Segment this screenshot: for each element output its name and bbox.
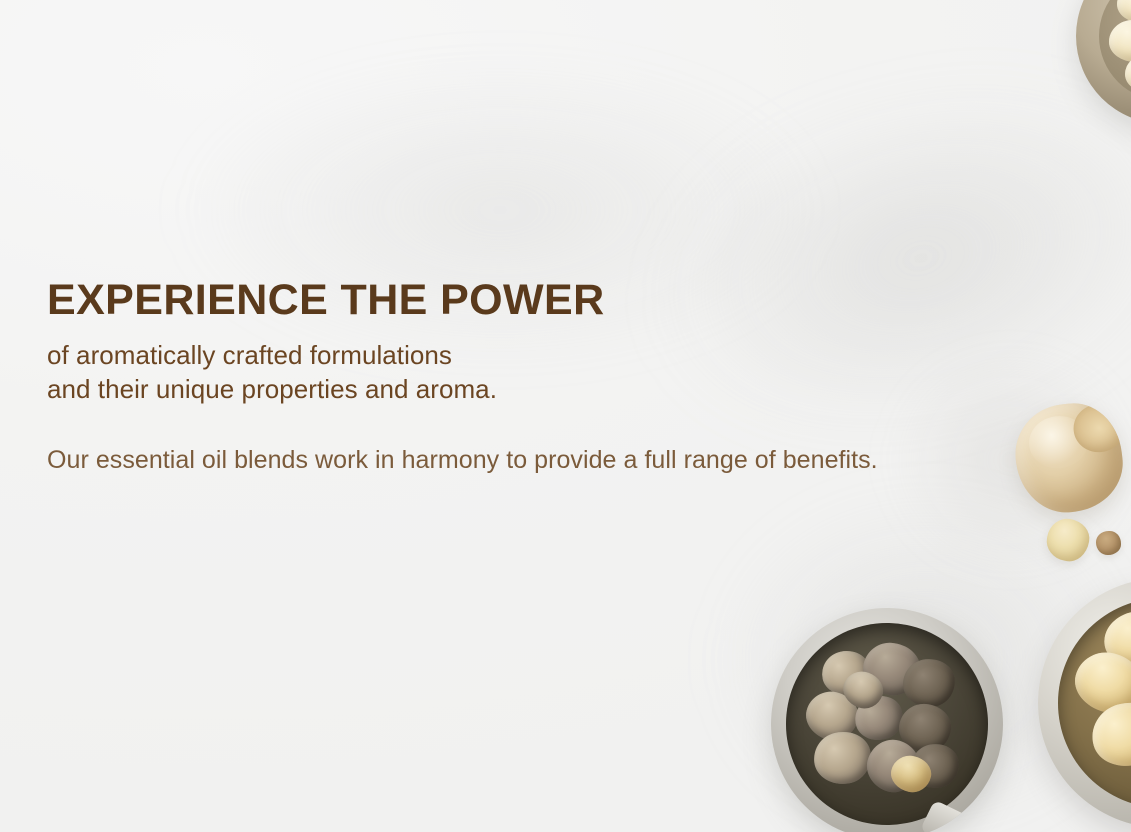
bowl-interior: [1099, 0, 1131, 101]
headline-copy-block: EXPERIENCE THE POWER of aromatically cra…: [47, 279, 1007, 476]
myrrh-pebble: [811, 728, 874, 788]
subheading-line-1: of aromatically crafted formulations: [47, 339, 1007, 373]
subheading: of aromatically crafted formulations and…: [47, 339, 1007, 407]
body-paragraph: Our essential oil blends work in harmony…: [47, 445, 1007, 476]
subheading-line-2: and their unique properties and aroma.: [47, 373, 1007, 407]
resin-pebble-icon: [1096, 531, 1121, 555]
dark-bowl-of-myrrh-resin-icon: [771, 608, 1003, 832]
bowl-interior: [1058, 598, 1131, 808]
resin-pebble: [1109, 20, 1131, 62]
page-title: EXPERIENCE THE POWER: [47, 279, 1007, 322]
bowl-interior: [786, 623, 988, 825]
